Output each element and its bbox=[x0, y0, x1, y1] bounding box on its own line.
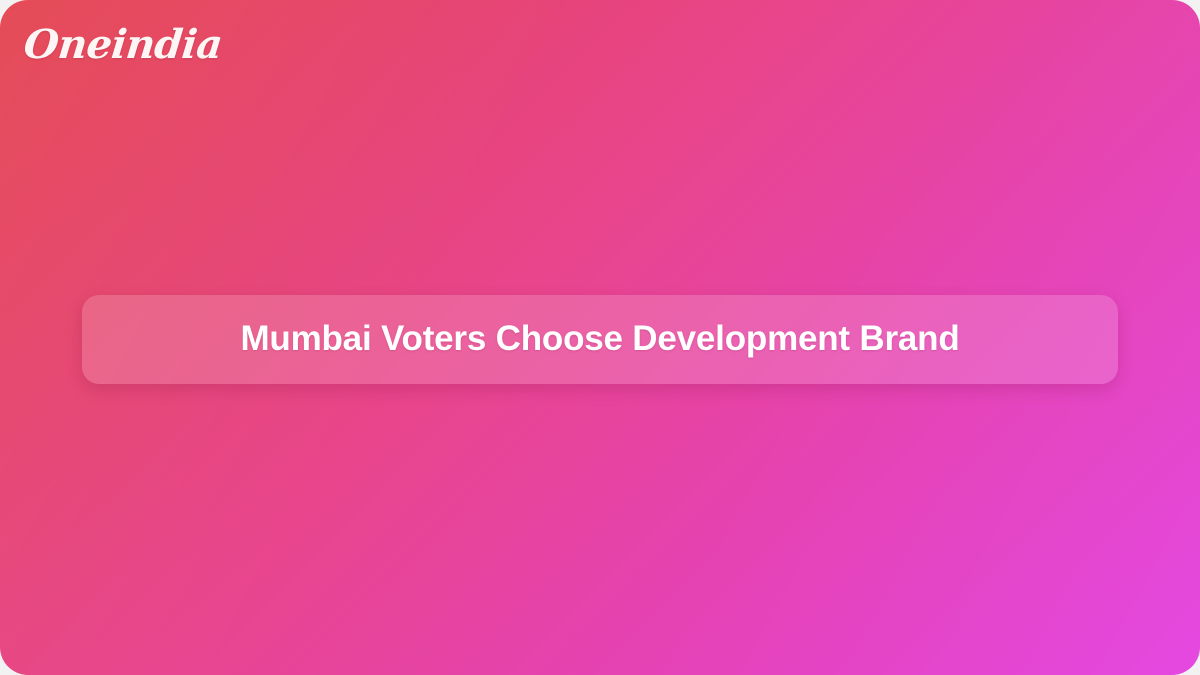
oneindia-logo[interactable]: Oneindia bbox=[21, 20, 224, 70]
screenshot-stage: Oneindia Mumbai Voters Choose Developmen… bbox=[0, 0, 1200, 675]
headline-title: Mumbai Voters Choose Development Brand bbox=[240, 319, 959, 359]
headline-banner: Mumbai Voters Choose Development Brand bbox=[82, 295, 1118, 384]
social-share-card: Oneindia Mumbai Voters Choose Developmen… bbox=[0, 0, 1200, 675]
